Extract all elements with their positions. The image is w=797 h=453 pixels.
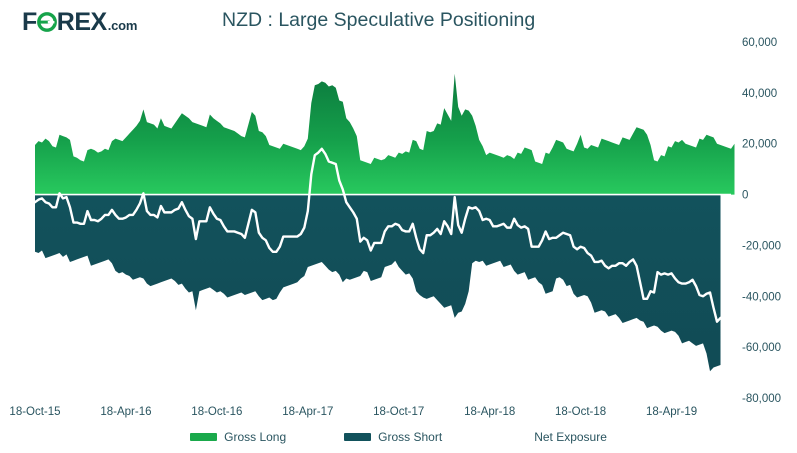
legend-label-net-exposure: Net Exposure <box>534 430 607 444</box>
chart-page: F REX .com NZD : Large Speculative Posit… <box>0 0 797 453</box>
y-axis-tick-label: 20,000 <box>742 139 777 151</box>
x-axis-tick-label: 18-Oct-15 <box>9 406 60 418</box>
x-axis-tick-label: 18-Oct-17 <box>373 406 424 418</box>
legend-item-net-exposure[interactable]: Net Exposure <box>500 430 607 444</box>
legend-label-gross-long: Gross Long <box>224 430 286 444</box>
x-axis-tick-label: 18-Oct-18 <box>555 406 606 418</box>
y-axis-tick-label: -20,000 <box>742 240 781 252</box>
y-axis-tick-label: 60,000 <box>742 37 777 49</box>
y-axis: 60,00040,00020,0000-20,000-40,000-60,000… <box>742 37 781 405</box>
x-axis-tick-label: 18-Apr-18 <box>464 406 515 418</box>
x-axis: 18-Oct-1518-Apr-1618-Oct-1618-Apr-1718-O… <box>9 406 697 418</box>
gross-short-area <box>35 195 721 372</box>
legend-swatch-gross-short <box>344 433 371 441</box>
y-axis-tick-label: -40,000 <box>742 291 781 303</box>
chart-legend: Gross Long Gross Short Net Exposure <box>0 430 797 444</box>
legend-label-gross-short: Gross Short <box>378 430 442 444</box>
legend-swatch-net-exposure <box>500 433 527 441</box>
legend-swatch-gross-long <box>190 433 217 441</box>
y-axis-tick-label: 0 <box>742 190 748 202</box>
chart-plot-area: 60,00040,00020,0000-20,000-40,000-60,000… <box>0 0 797 453</box>
x-axis-tick-label: 18-Apr-16 <box>100 406 151 418</box>
y-axis-tick-label: -80,000 <box>742 393 781 405</box>
positioning-chart: 60,00040,00020,0000-20,000-40,000-60,000… <box>0 0 797 453</box>
y-axis-tick-label: 40,000 <box>742 88 777 100</box>
x-axis-tick-label: 18-Apr-17 <box>282 406 333 418</box>
gross-long-area <box>35 74 735 195</box>
x-axis-tick-label: 18-Oct-16 <box>191 406 242 418</box>
legend-item-gross-long[interactable]: Gross Long <box>190 430 286 444</box>
y-axis-tick-label: -60,000 <box>742 342 781 354</box>
legend-item-gross-short[interactable]: Gross Short <box>344 430 442 444</box>
x-axis-tick-label: 18-Apr-19 <box>646 406 697 418</box>
